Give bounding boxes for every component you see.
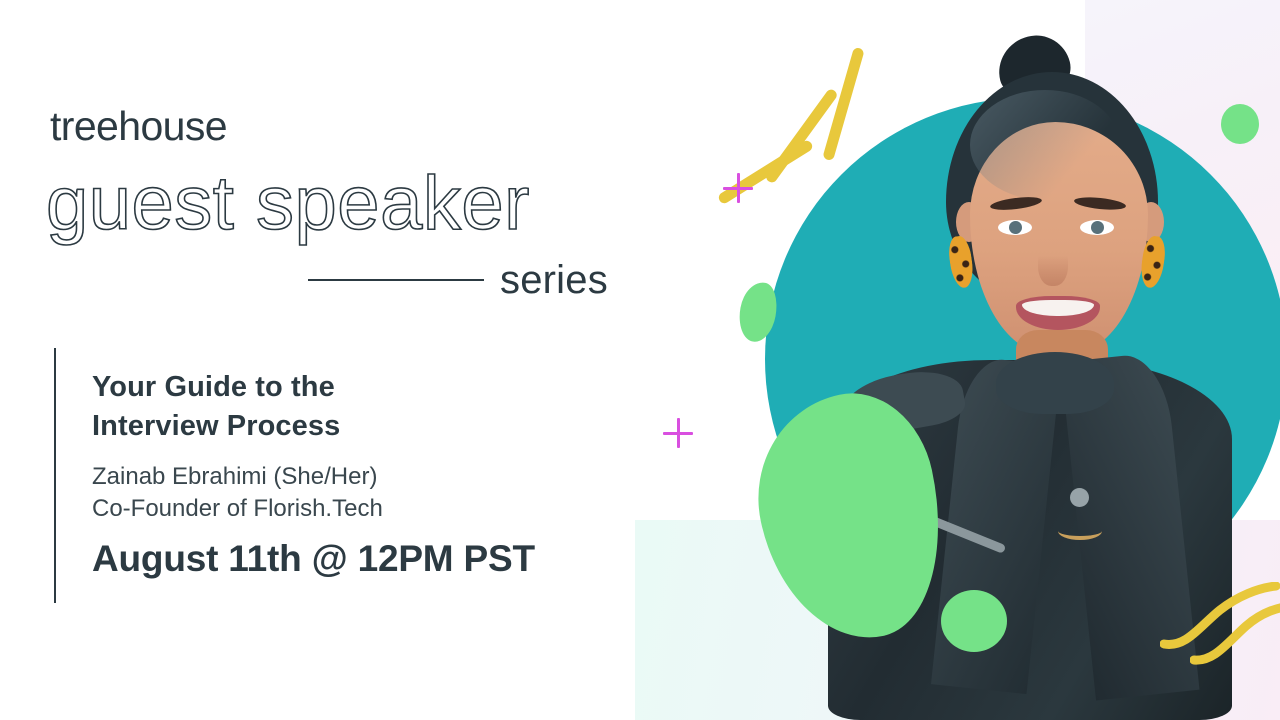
series-divider-rule xyxy=(308,279,484,281)
nose xyxy=(1038,242,1068,286)
iris-left xyxy=(1009,221,1022,234)
yellow-wavy-line-2 xyxy=(1190,600,1280,670)
magenta-plus-icon-bottom xyxy=(663,418,693,448)
guest-speaker-slide: treehouse guest speaker series Your Guid… xyxy=(0,0,1280,720)
iris-right xyxy=(1091,221,1104,234)
magenta-plus-icon-top xyxy=(723,173,753,203)
talk-title: Your Guide to the Interview Process xyxy=(92,368,340,446)
speaker-role: Co-Founder of Florish.Tech xyxy=(92,493,383,525)
jacket-snap-button xyxy=(1070,488,1089,507)
green-dot-bottom xyxy=(941,590,1007,652)
detail-vertical-rule xyxy=(54,348,56,603)
hair-highlight xyxy=(970,90,1120,200)
teeth xyxy=(1022,300,1094,316)
event-date-time: August 11th @ 12PM PST xyxy=(92,538,535,580)
series-label: series xyxy=(500,260,608,300)
speaker-name: Zainab Ebrahimi (She/Her) xyxy=(92,461,377,493)
treehouse-brandmark: treehouse xyxy=(50,106,227,147)
jacket-collar xyxy=(996,352,1114,414)
necklace xyxy=(1058,522,1102,540)
series-row: series xyxy=(308,258,626,302)
headline-guest-speaker: guest speaker xyxy=(46,166,530,242)
